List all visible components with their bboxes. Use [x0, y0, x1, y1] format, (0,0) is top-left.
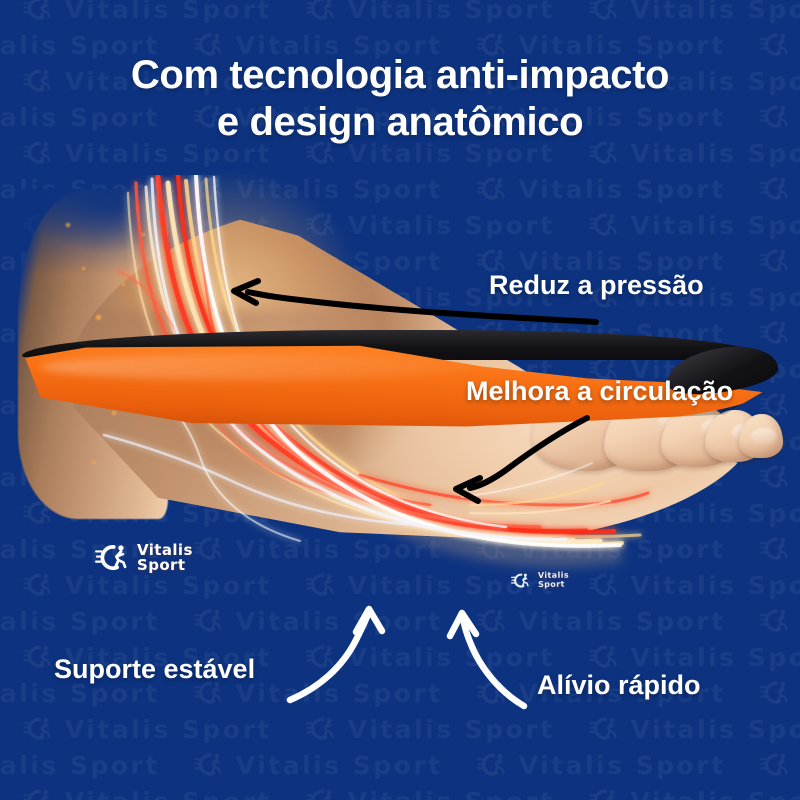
running-man-circle-icon [23, 644, 53, 670]
watermark-unit: Vitalis Sport [760, 751, 800, 780]
running-man-circle-icon [477, 752, 507, 778]
watermark-text: Vitalis Sport [236, 679, 443, 708]
watermark-unit: Vitalis Sport [23, 787, 272, 800]
running-man-circle-icon [589, 716, 619, 742]
watermark-text: Vitalis Sport [631, 787, 800, 800]
running-man-circle-icon [589, 644, 619, 670]
insole-highlight [40, 354, 470, 380]
watermark-row: Vitalis SportVitalis SportVitalis SportV… [0, 784, 800, 800]
watermark-unit: Vitalis Sport [589, 643, 800, 672]
watermark-row: Vitalis SportVitalis SportVitalis SportV… [0, 0, 800, 26]
callout-suporte-estavel: Suporte estável [54, 654, 255, 685]
watermark-unit: Vitalis Sport [23, 0, 272, 24]
watermark-text: Vitalis Sport [236, 751, 443, 780]
watermark-text: Vitalis Sport [631, 715, 800, 744]
callout-alivio-rapido: Alívio rápido [537, 670, 701, 701]
watermark-text: Vitalis Sport [65, 715, 272, 744]
watermark-text: Vitalis Sport [631, 0, 800, 24]
running-man-circle-icon [760, 680, 790, 706]
watermark-row: Vitalis SportVitalis SportVitalis SportV… [0, 712, 800, 746]
watermark-unit: Vitalis Sport [477, 751, 726, 780]
running-man-circle-icon [306, 644, 336, 670]
running-man-circle-icon [23, 788, 53, 800]
watermark-unit: Vitalis Sport [306, 715, 555, 744]
glow-spark [142, 233, 145, 236]
running-man-circle-icon [477, 680, 507, 706]
running-man-circle-icon [95, 543, 129, 573]
running-man-circle-icon [589, 788, 619, 800]
watermark-text: Vitalis Sport [519, 751, 726, 780]
watermark-unit: Vitalis Sport [589, 0, 800, 24]
headline: Com tecnologia anti-impacto e design ana… [0, 52, 800, 146]
glow-spark [66, 223, 70, 227]
glow-spark [92, 461, 95, 464]
insole-logo-line-2: Sport [137, 558, 193, 573]
watermark-text: Vitalis Sport [65, 0, 272, 24]
watermark-text: Vitalis Sport [348, 715, 555, 744]
callout-melhora-circulacao: Melhora a circulação [466, 376, 733, 407]
running-man-circle-icon [306, 788, 336, 800]
watermark-unit: Vitalis Sport [0, 751, 160, 780]
glow-spark [82, 267, 85, 270]
watermark-row: Vitalis SportVitalis SportVitalis SportV… [0, 748, 800, 782]
watermark-unit: Vitalis Sport [306, 643, 555, 672]
watermark-unit: Vitalis Sport [306, 0, 555, 24]
running-man-circle-icon [23, 0, 53, 22]
running-man-circle-icon [589, 0, 619, 22]
running-man-circle-icon [194, 752, 224, 778]
running-man-circle-icon [306, 716, 336, 742]
callout-reduz-pressao: Reduz a pressão [489, 270, 704, 301]
watermark-text: Vitalis Sport [348, 0, 555, 24]
glow-spark [122, 283, 125, 286]
glow-halo [95, 175, 355, 310]
running-man-circle-icon [23, 716, 53, 742]
insole-logo-line-2: Sport [538, 580, 569, 589]
watermark-unit: Vitalis Sport [589, 715, 800, 744]
watermark-text: Vitalis Sport [0, 751, 160, 780]
running-man-circle-icon [760, 752, 790, 778]
watermark-text: Vitalis Sport [631, 643, 800, 672]
insole-logo-primary: Vitalis Sport [95, 543, 193, 574]
watermark-unit: Vitalis Sport [760, 679, 800, 708]
watermark-unit: Vitalis Sport [306, 787, 555, 800]
watermark-unit: Vitalis Sport [194, 751, 443, 780]
insole-logo-secondary: Vitalis Sport [511, 571, 569, 589]
watermark-unit: Vitalis Sport [589, 787, 800, 800]
watermark-text: Vitalis Sport [65, 787, 272, 800]
product-marketing-banner: Vitalis SportVitalis SportVitalis SportV… [0, 0, 800, 800]
watermark-unit: Vitalis Sport [23, 715, 272, 744]
watermark-text: Vitalis Sport [348, 643, 555, 672]
running-man-circle-icon [306, 0, 336, 22]
glow-spark [96, 315, 101, 320]
watermark-text: Vitalis Sport [348, 787, 555, 800]
headline-line-1: Com tecnologia anti-impacto [131, 53, 669, 97]
running-man-circle-icon [511, 572, 530, 589]
headline-line-2: e design anatômico [0, 99, 800, 146]
